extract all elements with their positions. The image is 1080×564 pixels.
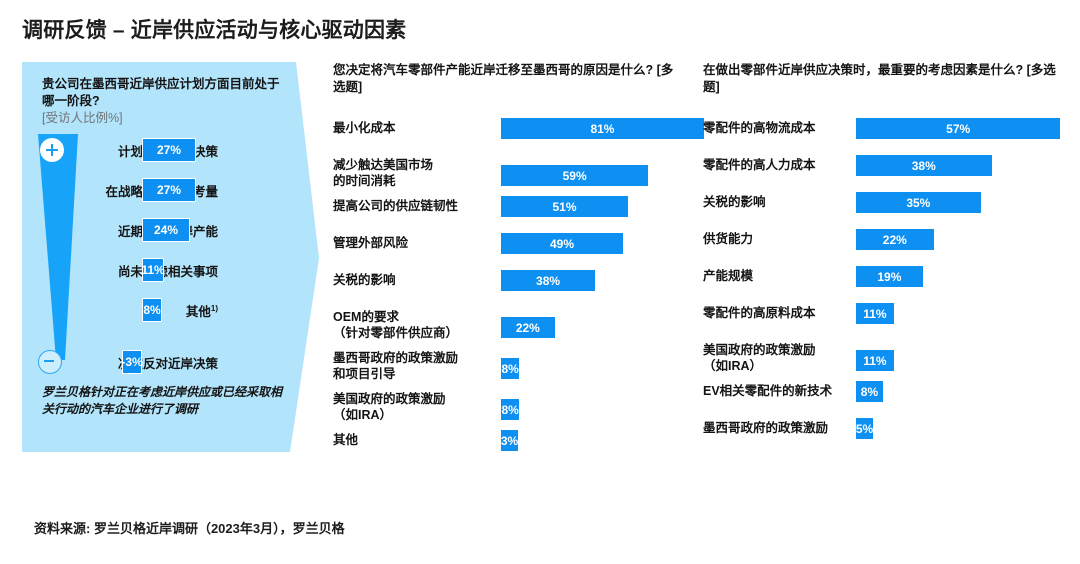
chart-row: 零配件的高人力成本38% xyxy=(703,157,1071,194)
chart-row-bar: 11% xyxy=(855,302,895,325)
right-panel: 在做出零部件近岸供应决策时，最重要的考虑因素是什么? [多选题] 零配件的高物流… xyxy=(703,62,1071,96)
chart-row-label: 美国政府的政策激励 （如IRA） xyxy=(703,342,847,375)
left-row-bar: -3% xyxy=(122,350,142,374)
chart-row-label: 提高公司的供应链韧性 xyxy=(333,198,492,214)
left-panel: 贵公司在墨西哥近岸供应计划方面目前处于哪一阶段? [受访人比例%] 计划执行近岸… xyxy=(22,62,322,452)
chart-row-label: 零配件的高人力成本 xyxy=(703,157,847,173)
chart-row-bar: 38% xyxy=(855,154,993,177)
chart-row-label: 产能规模 xyxy=(703,268,847,284)
chart-row-label: 零配件的高物流成本 xyxy=(703,120,847,136)
left-row-bar: 11% xyxy=(142,258,164,282)
middle-panel-question: 您决定将汽车零部件产能近岸迁移至墨西哥的原因是什么? [多选题] xyxy=(333,62,685,96)
left-panel-unit: [受访人比例%] xyxy=(42,110,123,126)
chart-row-label: 其他 xyxy=(333,432,492,448)
chart-row: 减少触达美国市场 的时间消耗59% xyxy=(333,157,685,198)
chart-row-bar: 81% xyxy=(500,117,705,140)
left-row-label: 其他1) xyxy=(186,301,218,320)
chart-row-label: 管理外部风险 xyxy=(333,235,492,251)
left-panel-row: 决定反对近岸决策-3% xyxy=(82,350,314,376)
left-panel-row: 在战略层面进行考量27% xyxy=(82,178,314,204)
chart-row-label: EV相关零配件的新技术 xyxy=(703,383,847,399)
chart-row-bar: 57% xyxy=(855,117,1061,140)
chart-row-label: 墨西哥政府的政策激励 xyxy=(703,420,847,436)
chart-row-label: 美国政府的政策激励 （如IRA） xyxy=(333,391,492,424)
chart-row: 供货能力22% xyxy=(703,231,1071,268)
right-panel-question: 在做出零部件近岸供应决策时，最重要的考虑因素是什么? [多选题] xyxy=(703,62,1071,96)
slide-root: 调研反馈 – 近岸供应活动与核心驱动因素 贵公司在墨西哥近岸供应计划方面目前处于… xyxy=(0,0,1080,564)
chart-row-bar: 22% xyxy=(500,316,556,339)
chart-row-bar: 8% xyxy=(855,380,884,403)
chart-row: OEM的要求 （针对零部件供应商）22% xyxy=(333,309,685,350)
chart-row: 管理外部风险49% xyxy=(333,235,685,272)
chart-row: EV相关零配件的新技术8% xyxy=(703,383,1071,420)
chart-row-bar: 38% xyxy=(500,269,596,292)
chart-row-label: 关税的影响 xyxy=(333,272,492,288)
chart-row-bar: 8% xyxy=(500,398,520,421)
chart-row-bar: 8% xyxy=(500,357,520,380)
left-panel-row: 近期布置近岸产能24% xyxy=(82,218,314,244)
chart-row: 零配件的高物流成本57% xyxy=(703,120,1071,157)
plus-circle-icon xyxy=(40,138,64,162)
chart-row-label: 供货能力 xyxy=(703,231,847,247)
chart-row: 墨西哥政府的政策激励 和项目引导8% xyxy=(333,350,685,391)
middle-panel: 您决定将汽车零部件产能近岸迁移至墨西哥的原因是什么? [多选题] 最小化成本81… xyxy=(333,62,685,96)
minus-circle-icon xyxy=(38,350,62,374)
chart-row: 提高公司的供应链韧性51% xyxy=(333,198,685,235)
chart-row-bar: 22% xyxy=(855,228,935,251)
footnote-marker: 1) xyxy=(211,304,218,313)
page-title: 调研反馈 – 近岸供应活动与核心驱动因素 xyxy=(22,14,406,44)
left-panel-note: 罗兰贝格针对正在考虑近岸供应或已经采取相关行动的汽车企业进行了调研 xyxy=(42,384,288,419)
chart-row-bar: 59% xyxy=(500,164,649,187)
chart-row-bar: 19% xyxy=(855,265,924,288)
left-panel-row: 计划执行近岸决策27% xyxy=(82,138,314,164)
chart-row: 墨西哥政府的政策激励5% xyxy=(703,420,1071,457)
chart-row: 关税的影响38% xyxy=(333,272,685,309)
left-panel-question: 贵公司在墨西哥近岸供应计划方面目前处于哪一阶段? xyxy=(42,76,280,111)
chart-row-label: 关税的影响 xyxy=(703,194,847,210)
chart-row-bar: 5% xyxy=(855,417,874,440)
left-row-bar: 8% xyxy=(142,298,162,322)
left-panel-row: 尚未考虑相关事项11% xyxy=(82,258,314,284)
chart-row: 零配件的高原料成本11% xyxy=(703,305,1071,342)
left-row-bar: 27% xyxy=(142,138,196,162)
left-row-bar: 24% xyxy=(142,218,190,242)
chart-row-bar: 49% xyxy=(500,232,624,255)
chart-row-label: OEM的要求 （针对零部件供应商） xyxy=(333,309,492,342)
chart-row: 其他3% xyxy=(333,432,685,469)
chart-row: 关税的影响35% xyxy=(703,194,1071,231)
chart-row: 最小化成本81% xyxy=(333,120,685,157)
chart-row-bar: 51% xyxy=(500,195,629,218)
left-row-label: 尚未考虑相关事项 xyxy=(118,261,218,280)
left-row-bar: 27% xyxy=(142,178,196,202)
chart-row: 美国政府的政策激励 （如IRA）8% xyxy=(333,391,685,432)
left-panel-row: 其他1)8% xyxy=(82,298,314,324)
chart-row-label: 减少触达美国市场 的时间消耗 xyxy=(333,157,492,190)
chart-row-label: 最小化成本 xyxy=(333,120,492,136)
chart-row-label: 墨西哥政府的政策激励 和项目引导 xyxy=(333,350,492,383)
chart-row: 产能规模19% xyxy=(703,268,1071,305)
chart-row: 美国政府的政策激励 （如IRA）11% xyxy=(703,342,1071,383)
chart-row-bar: 11% xyxy=(855,349,895,372)
chart-row-bar: 3% xyxy=(500,429,519,452)
chart-row-label: 零配件的高原料成本 xyxy=(703,305,847,321)
chart-row-bar: 35% xyxy=(855,191,982,214)
source-note: 资料来源: 罗兰贝格近岸调研（2023年3月），罗兰贝格 xyxy=(34,518,345,537)
